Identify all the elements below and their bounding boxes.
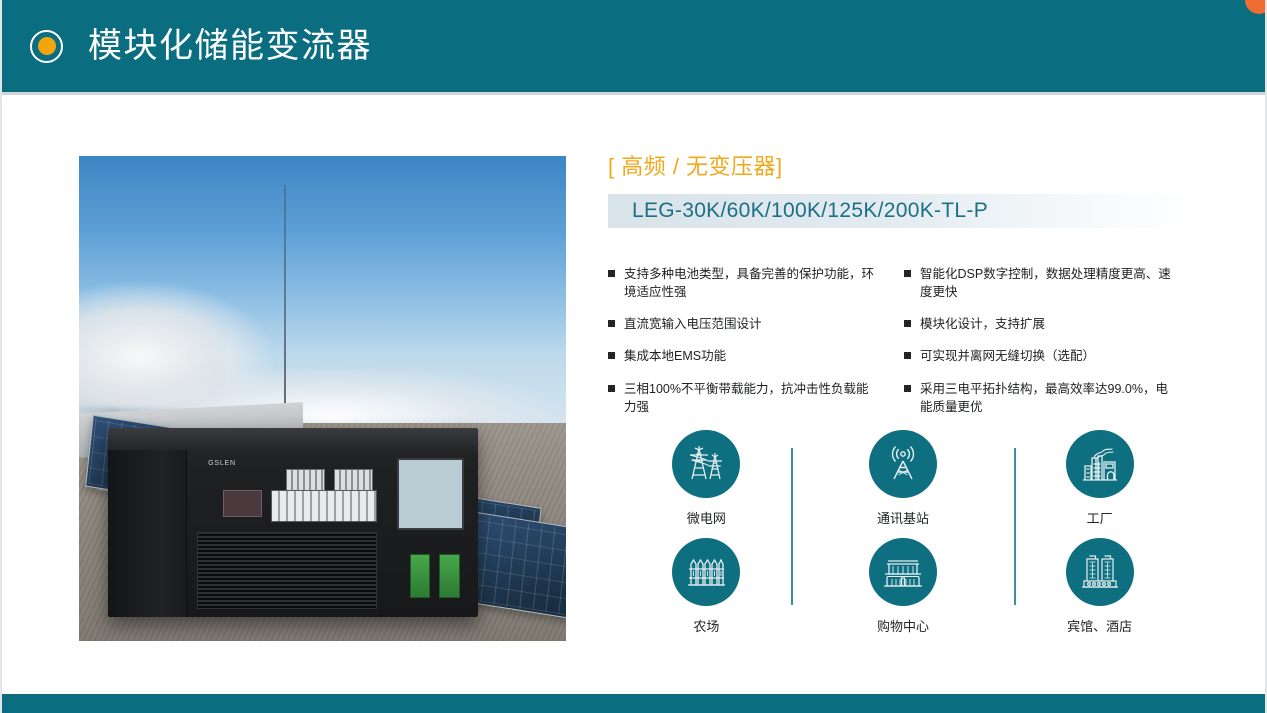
square-bullet-icon [904,320,911,327]
list-item: 智能化DSP数字控制，数据处理精度更高、速度更快 [904,265,1172,301]
application-divider [1014,448,1016,605]
square-bullet-icon [608,352,615,359]
square-bullet-icon [904,270,911,277]
list-item: 直流宽输入电压范围设计 [608,315,876,333]
application-label: 工厂 [1087,508,1113,527]
feature-text: 支持多种电池类型，具备完善的保护功能，环境适应性强 [624,265,876,301]
circle-dot-icon [30,30,63,63]
application-label: 宾馆、酒店 [1067,616,1132,635]
feature-text: 直流宽输入电压范围设计 [624,315,762,333]
application-item-mall: 购物中心 [805,538,1002,646]
application-item-farm: 农场 [608,538,805,646]
list-item: 支持多种电池类型，具备完善的保护功能，环境适应性强 [608,265,876,301]
application-scenarios: 微电网 通讯基站 [608,430,1198,645]
product-info-panel: [ 高频 / 无变压器] LEG-30K/60K/100K/125K/200K-… [608,156,1198,416]
feature-list-right: 智能化DSP数字控制，数据处理精度更高、速度更快 模块化设计，支持扩展 可实现并… [904,265,1172,416]
circle-dot-inner [38,37,56,55]
application-divider [791,448,793,605]
application-item-factory: 工厂 [1001,430,1198,538]
hotel-buildings-icon [1066,538,1134,606]
device-top-panel [108,428,478,453]
device-vent-grille [197,532,377,610]
feature-text: 三相100%不平衡带载能力，抗冲击性负载能力强 [624,380,876,416]
feature-text: 模块化设计，支持扩展 [920,315,1045,333]
product-model-text: LEG-30K/60K/100K/125K/200K-TL-P [608,199,988,223]
list-item: 集成本地EMS功能 [608,347,876,365]
inverter-device: GSLEN [108,428,478,617]
device-ports [223,490,262,517]
page-title: 模块化储能变流器 [88,29,372,63]
device-terminal-block [410,554,431,598]
device-breaker-switches [271,490,377,522]
application-grid: 微电网 通讯基站 [608,430,1198,645]
solar-panel-rooftop-photo: GSLEN [79,156,566,641]
application-label: 农场 [693,616,719,635]
application-item-hotel: 宾馆、酒店 [1001,538,1198,646]
list-item: 三相100%不平衡带载能力，抗冲击性负载能力强 [608,380,876,416]
mall-building-icon [869,538,937,606]
slide-header: 模块化储能变流器 [2,0,1267,92]
feature-text: 智能化DSP数字控制，数据处理精度更高、速度更快 [920,265,1172,301]
device-side-panel [108,450,187,616]
application-label: 购物中心 [877,616,929,635]
device-label-plate [334,469,373,492]
antenna-tower-icon [869,430,937,498]
feature-text: 集成本地EMS功能 [624,347,726,365]
device-label-plate [286,469,325,492]
application-label: 通讯基站 [877,508,929,527]
device-brand-label: GSLEN [208,460,236,467]
square-bullet-icon [608,270,615,277]
application-label: 微电网 [687,508,726,527]
list-item: 可实现并离网无缝切换（选配） [904,347,1172,365]
square-bullet-icon [608,385,615,392]
antenna-mast [284,185,286,418]
square-bullet-icon [904,352,911,359]
application-item-base-station: 通讯基站 [805,430,1002,538]
factory-icon [1066,430,1134,498]
product-model-bar: LEG-30K/60K/100K/125K/200K-TL-P [608,194,1198,228]
header-underline [2,92,1267,95]
list-item: 采用三电平拓扑结构，最高效率达99.0%，电能质量更优 [904,380,1172,416]
square-bullet-icon [904,385,911,392]
feature-text: 可实现并离网无缝切换（选配） [920,347,1095,365]
slide-root: 模块化储能变流器 GSLEN [ 高 [0,0,1267,713]
list-item: 模块化设计，支持扩展 [904,315,1172,333]
application-item-microgrid: 微电网 [608,430,805,538]
square-bullet-icon [608,320,615,327]
feature-list-left: 支持多种电池类型，具备完善的保护功能，环境适应性强 直流宽输入电压范围设计 集成… [608,265,876,416]
footer-bar [2,694,1267,713]
device-display-screen [397,458,464,530]
fence-icon [672,538,740,606]
product-kicker: [ 高频 / 无变压器] [608,156,1198,178]
feature-text: 采用三电平拓扑结构，最高效率达99.0%，电能质量更优 [920,380,1172,416]
feature-lists: 支持多种电池类型，具备完善的保护功能，环境适应性强 直流宽输入电压范围设计 集成… [608,265,1198,416]
power-tower-icon [672,430,740,498]
device-terminal-block [439,554,460,598]
